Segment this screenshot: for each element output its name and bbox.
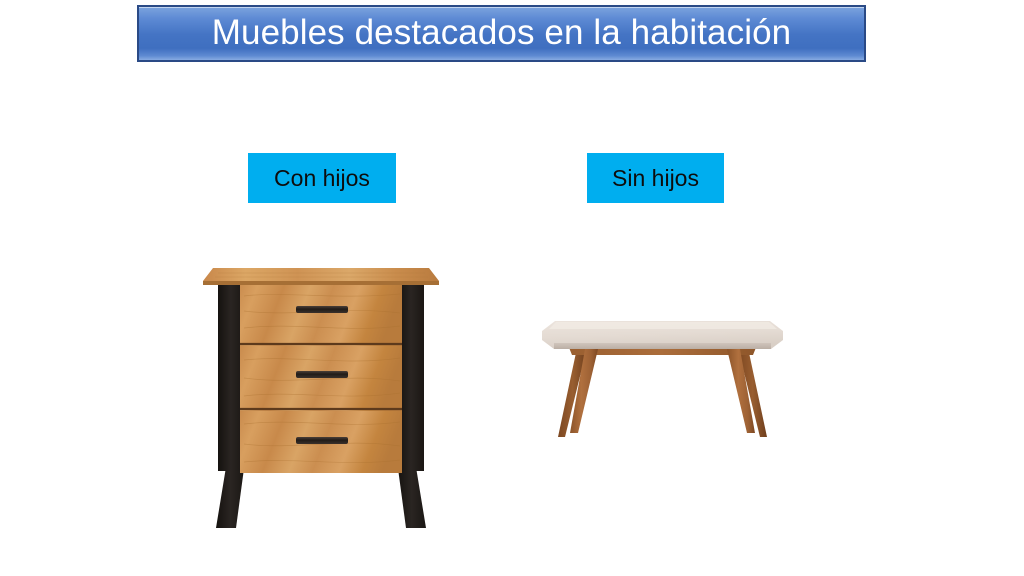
nightstand-handle-middle[interactable] [296,371,348,378]
caption-con-hijos-label: Con hijos [274,167,370,190]
slide-title-banner: Muebles destacados en la habitación [137,5,866,62]
nightstand-handle-top[interactable] [296,306,348,313]
coffee-table-illustration [525,305,800,455]
page-title: Muebles destacados en la habitación [212,15,791,53]
nightstand-handle-bottom[interactable] [296,437,348,444]
nightstand-image [196,256,446,541]
caption-con-hijos: Con hijos [248,153,396,203]
nightstand-top-edge [203,281,439,285]
nightstand-top-surface [203,268,439,281]
coffee-table-image [525,305,800,455]
caption-sin-hijos: Sin hijos [587,153,724,203]
coffee-table-top-edge [554,343,771,349]
caption-sin-hijos-label: Sin hijos [612,167,699,190]
coffee-table-top-highlight [549,322,777,329]
nightstand-illustration [196,256,446,541]
